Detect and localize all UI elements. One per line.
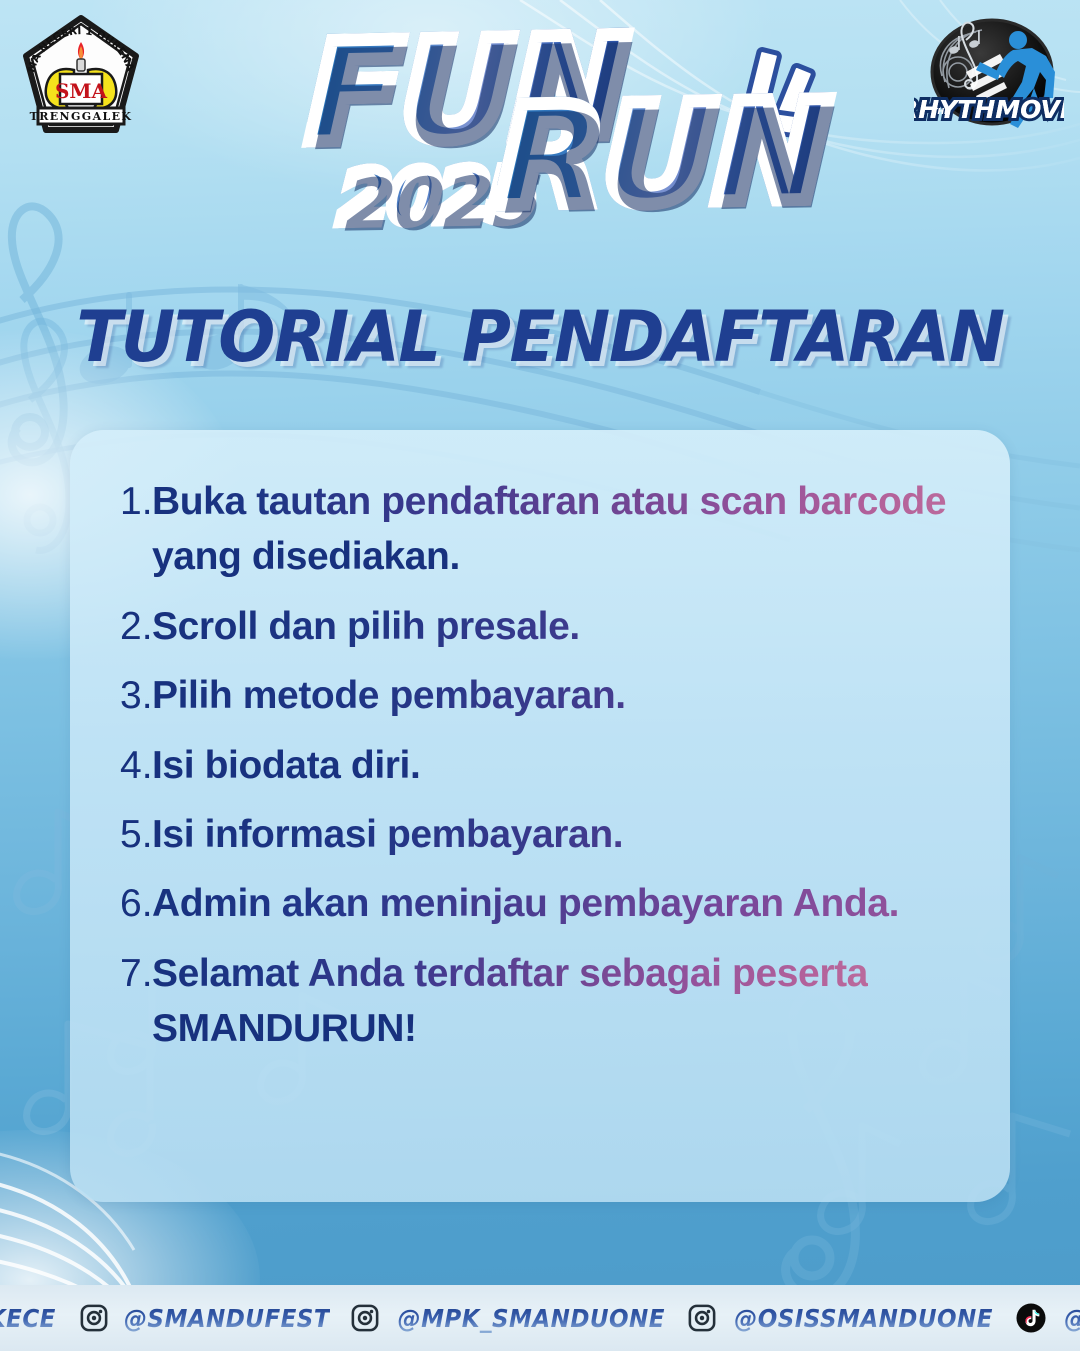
- social-item-mpk-smanduone[interactable]: @MPK_SMANDUONE: [351, 1304, 677, 1333]
- step-number: 3.: [104, 668, 152, 723]
- school-logo-banner-text: TRENGGALEK: [30, 110, 133, 123]
- step-text: Admin akan meninjau pembayaran Anda.: [152, 876, 976, 931]
- step-continuation: yang disediakan.: [104, 529, 946, 584]
- step-number: 1.: [104, 474, 152, 529]
- rhythmove-prefix: THE: [932, 107, 950, 116]
- footer-social-bar: @SMANDUONEKECE @SMANDUFEST @MPK_SMANDUON…: [0, 1285, 1080, 1351]
- funrun-logo: FUN 2025 RUN: [300, 8, 800, 258]
- list-item: 3. Pilih metode pembayaran.: [104, 668, 976, 723]
- list-item: 4. Isi biodata diri.: [104, 738, 976, 793]
- step-text: Scroll dan pilih presale.: [152, 599, 976, 654]
- rhythmove-logo: RHYTHMOVE RHYTHMOVE THE: [914, 14, 1064, 149]
- step-number: 5.: [104, 807, 152, 862]
- step-text: Pilih metode pembayaran.: [152, 668, 976, 723]
- list-item: 5. Isi informasi pembayaran.: [104, 807, 976, 862]
- school-logo: SMA NEGERI 1 DURENAN SMA TRENGGALEK: [16, 12, 146, 147]
- step-text: Selamat Anda terdaftar sebagai peserta: [152, 946, 868, 1001]
- steps-list: 1. Buka tautan pendaftaran atau scan bar…: [104, 474, 976, 1056]
- tiktok-icon: [1016, 1303, 1046, 1333]
- social-handle: @SMANDUFEST: [124, 1304, 330, 1333]
- social-item-smanduonekece[interactable]: @SMANDUONEKECE: [0, 1304, 68, 1333]
- step-continuation: SMANDURUN!: [104, 1001, 868, 1056]
- social-handle: @MPK_SMANDUONE: [397, 1304, 664, 1333]
- list-item: 2. Scroll dan pilih presale.: [104, 599, 976, 654]
- list-item: 6. Admin akan meninjau pembayaran Anda.: [104, 876, 976, 931]
- instagram-icon: [688, 1304, 716, 1332]
- social-item-osissmanduone-ig[interactable]: @OSISSMANDUONE: [688, 1304, 1004, 1333]
- social-handle: @SMANDUONEKECE: [0, 1304, 56, 1333]
- social-handle: @OSISSMANDUONE: [1065, 1304, 1080, 1333]
- school-logo-center-text: SMA: [55, 79, 108, 103]
- instagram-icon: [351, 1304, 379, 1332]
- social-item-smandufest[interactable]: @SMANDUFEST: [80, 1304, 339, 1333]
- step-text: Buka tautan pendaftaran atau scan barcod…: [152, 474, 946, 529]
- step-number: 2.: [104, 599, 152, 654]
- social-item-osissmanduone-tiktok[interactable]: @OSISSMANDUONE: [1016, 1303, 1080, 1333]
- step-number: 4.: [104, 738, 152, 793]
- funrun-word-run: RUN: [495, 83, 831, 227]
- instagram-icon: [80, 1304, 108, 1332]
- step-number: 6.: [104, 876, 152, 931]
- poster-canvas: SMA NEGERI 1 DURENAN SMA TRENGGALEK FUN …: [0, 0, 1080, 1351]
- page-title: TUTORIAL PENDAFTARAN: [22, 296, 1059, 378]
- social-handle: @OSISSMANDUONE: [735, 1304, 994, 1333]
- steps-card: 1. Buka tautan pendaftaran atau scan bar…: [70, 430, 1010, 1202]
- list-item: 7. Selamat Anda terdaftar sebagai pesert…: [104, 946, 976, 1057]
- step-text: Isi informasi pembayaran.: [152, 807, 976, 862]
- list-item: 1. Buka tautan pendaftaran atau scan bar…: [104, 474, 976, 585]
- step-text: Isi biodata diri.: [152, 738, 976, 793]
- step-number: 7.: [104, 946, 152, 1001]
